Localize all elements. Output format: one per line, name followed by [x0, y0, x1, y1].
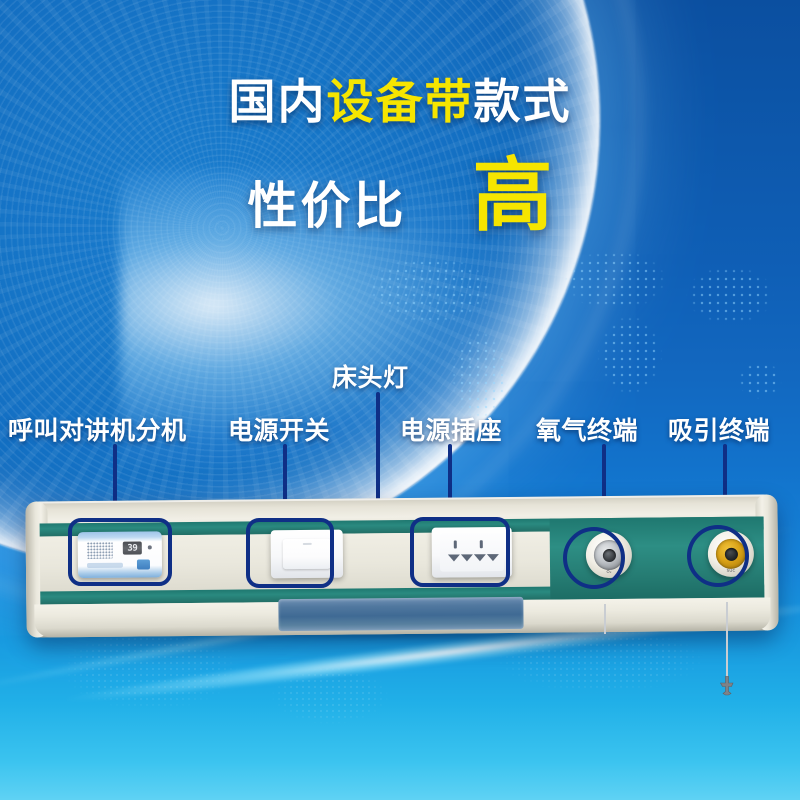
callout-label-power-socket: 电源插座 [400, 411, 502, 447]
socket-faceplate [440, 533, 504, 572]
callout-label-suction-outlet: 吸引终端 [668, 411, 770, 447]
suction-terminal-device[interactable]: SUC [708, 531, 754, 577]
intercom-call-button[interactable] [137, 559, 150, 569]
intercom-display: 39 [123, 541, 142, 554]
oxygen-ring [594, 540, 624, 570]
suction-ring [716, 539, 746, 569]
headline-line-1: 国内设备带款式 [0, 78, 800, 127]
intercom-label-slot [87, 563, 123, 568]
oxygen-terminal-text: O₂ [586, 569, 632, 574]
rocker-notch-icon [303, 543, 312, 545]
headline-seg-2: 设备带 [327, 75, 474, 130]
advertisement-banner: 国内设备带款式 性价比 高 呼叫对讲机分机 电源开关 床头灯 电源插座 氧气终端… [0, 0, 800, 800]
socket-angled-slot-1 [448, 554, 460, 561]
speaker-grille-icon [87, 542, 113, 559]
bed-lamp-diffuser [278, 597, 523, 631]
callout-label-intercom: 呼叫对讲机分机 [8, 411, 187, 447]
bed-head-unit: 39 O₂ [25, 494, 778, 637]
headline-seg-3: 款式 [474, 75, 572, 130]
headline-value-phrase: 性价比 [248, 166, 407, 238]
headline-seg-1: 国内 [229, 75, 327, 130]
callout-label-oxygen-outlet: 氧气终端 [536, 411, 638, 447]
headline-line-2: 性价比 高 [0, 164, 800, 240]
callout-label-bed-lamp: 床头灯 [332, 358, 409, 394]
suction-cord [726, 602, 728, 680]
oxygen-terminal-device[interactable]: O₂ [586, 532, 632, 578]
power-switch-device[interactable] [271, 530, 343, 579]
headline-emphasis-high: 高 [473, 158, 553, 234]
socket-angled-slot-2 [461, 554, 473, 561]
indicator-led-icon [148, 545, 152, 549]
nurse-call-intercom[interactable]: 39 [78, 531, 162, 578]
socket-angled-slot-3 [474, 554, 486, 561]
suction-terminal-text: SUC [708, 568, 754, 573]
oxygen-port-hole [602, 548, 615, 561]
power-socket-device[interactable] [432, 527, 512, 578]
socket-pin-slot-2 [480, 540, 483, 548]
callout-label-power-switch: 电源开关 [228, 411, 330, 447]
socket-pin-slot-1 [454, 540, 457, 548]
suction-hose-fitting-icon [717, 676, 737, 698]
oxygen-cord [604, 604, 606, 634]
rocker-paddle[interactable] [283, 539, 331, 569]
suction-port-hole [724, 547, 737, 560]
headline-block: 国内设备带款式 性价比 高 [0, 78, 800, 127]
socket-angled-slot-4 [487, 554, 499, 561]
